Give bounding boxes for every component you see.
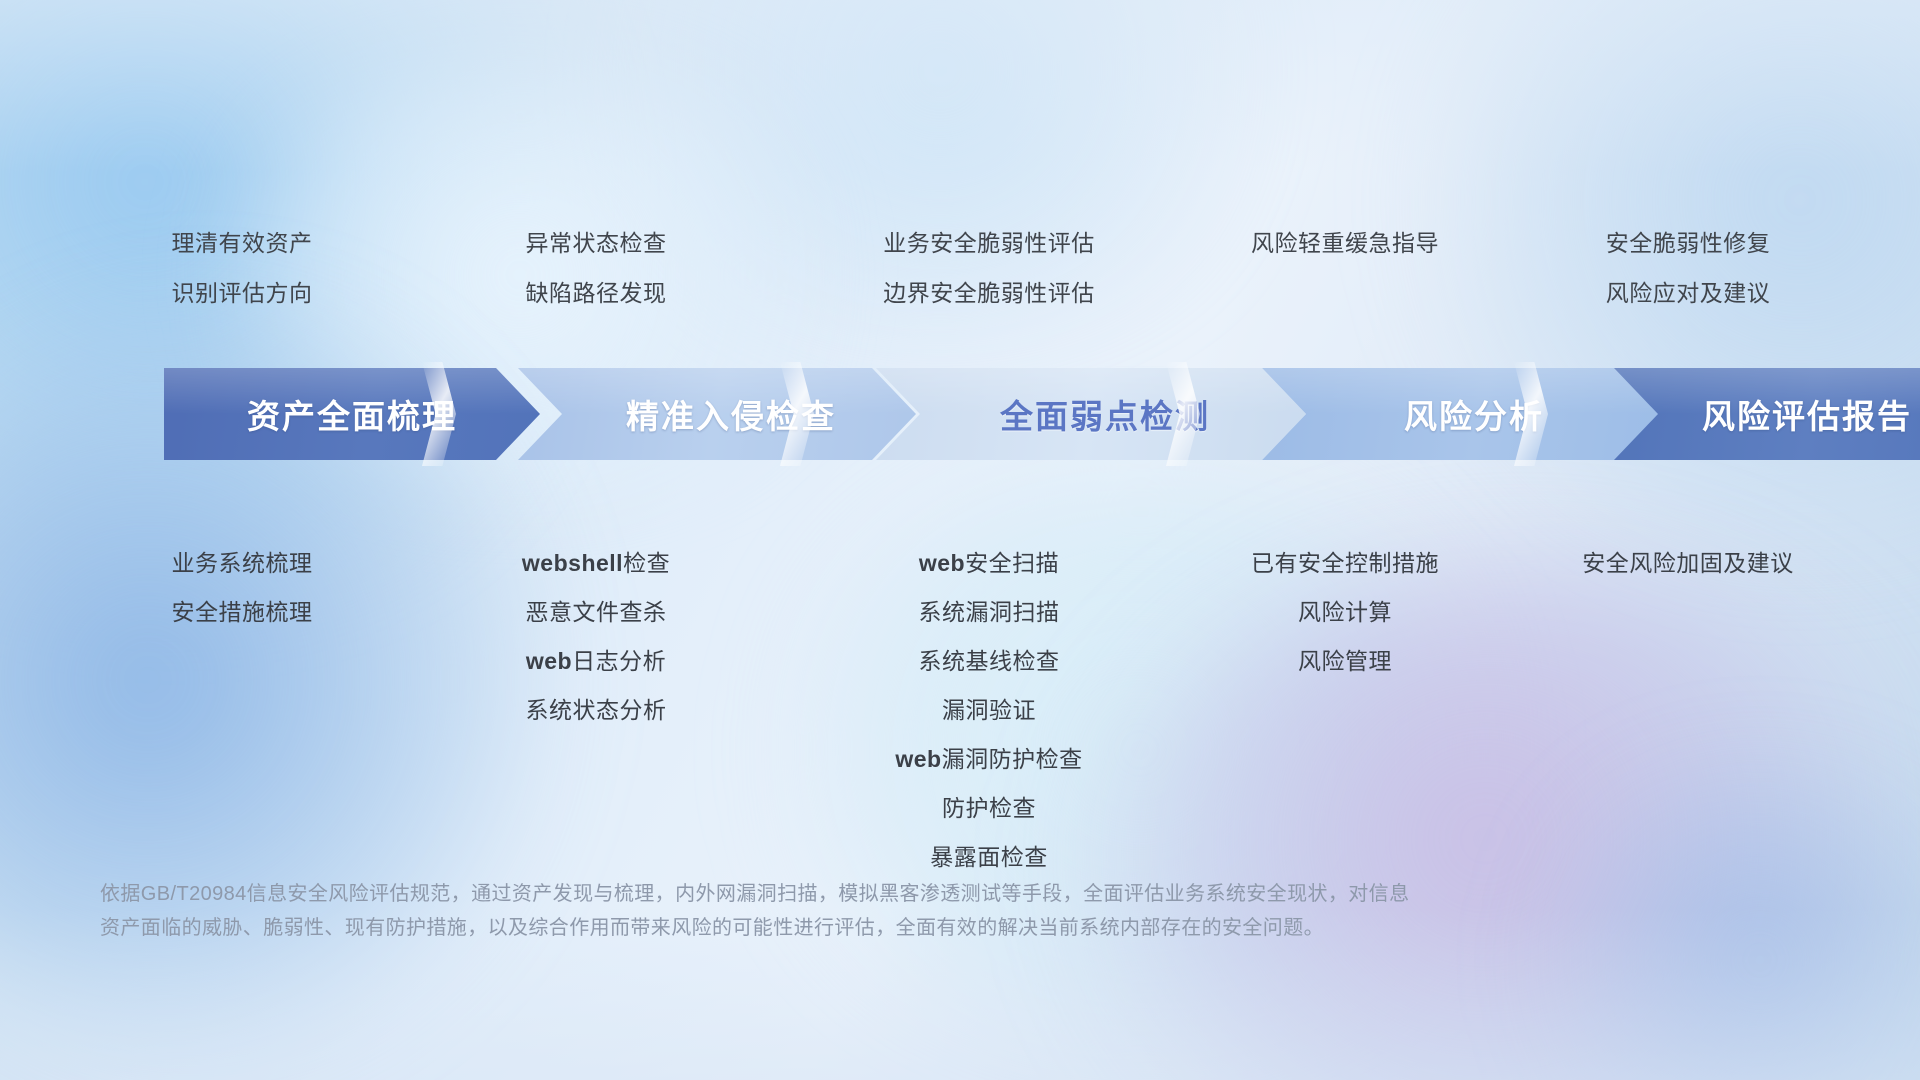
bottom-note-text: 检查 [623,550,670,576]
bottom-note-text: 系统基线检查 [919,648,1060,674]
top-note: 风险应对及建议 [1528,282,1848,305]
bottom-note: webshell检查 [436,552,756,575]
top-note: 异常状态检查 [436,232,756,255]
bottom-note-text: 已有安全控制措施 [1251,550,1439,576]
bottom-note-text: 漏洞验证 [942,697,1036,723]
top-note: 风险轻重缓急指导 [1180,232,1510,255]
bottom-note: 防护检查 [794,797,1184,820]
bottom-note-text: 漏洞防护检查 [942,746,1083,772]
top-note: 识别评估方向 [82,282,402,305]
slide-canvas: 理清有效资产识别评估方向异常状态检查缺陷路径发现业务安全脆弱性评估边界安全脆弱性… [0,0,1920,1080]
top-notes-column-2: 异常状态检查缺陷路径发现 [436,232,756,305]
bottom-notes-column-5: 安全风险加固及建议 [1528,552,1848,575]
diagram-content: 理清有效资产识别评估方向异常状态检查缺陷路径发现业务安全脆弱性评估边界安全脆弱性… [0,0,1920,1080]
top-note: 理清有效资产 [82,232,402,255]
bottom-note: 系统漏洞扫描 [794,601,1184,624]
process-arrow-1[interactable]: 资产全面梳理 [164,368,540,460]
bottom-note-lead: web [919,550,965,576]
top-note: 缺陷路径发现 [436,282,756,305]
top-note: 业务安全脆弱性评估 [794,232,1184,255]
bottom-note: 安全风险加固及建议 [1528,552,1848,575]
bottom-note-text: 安全风险加固及建议 [1582,550,1794,576]
bottom-note: 已有安全控制措施 [1180,552,1510,575]
process-arrow-band: 资产全面梳理精准入侵检查全面弱点检测风险分析风险评估报告 [82,368,1848,460]
top-note: 边界安全脆弱性评估 [794,282,1184,305]
bottom-note-text: 日志分析 [572,648,666,674]
top-notes-column-4: 风险轻重缓急指导 [1180,232,1510,255]
top-notes-column-5: 安全脆弱性修复风险应对及建议 [1528,232,1848,305]
bottom-note: 暴露面检查 [794,846,1184,869]
bottom-notes-column-3: web安全扫描系统漏洞扫描系统基线检查漏洞验证web漏洞防护检查防护检查暴露面检… [794,552,1184,869]
bottom-note: 风险管理 [1180,650,1510,673]
bottom-note-text: 系统漏洞扫描 [919,599,1060,625]
footer-line-2: 资产面临的威胁、脆弱性、现有防护措施，以及综合作用而带来风险的可能性进行评估，全… [100,911,1630,945]
bottom-note: 漏洞验证 [794,699,1184,722]
bottom-note: 系统基线检查 [794,650,1184,673]
bottom-note: 业务系统梳理 [82,552,402,575]
process-arrow-2[interactable]: 精准入侵检查 [518,368,916,460]
bottom-note-lead: webshell [522,550,623,576]
bottom-note: 系统状态分析 [436,699,756,722]
top-notes-column-1: 理清有效资产识别评估方向 [82,232,402,305]
arrow-label-4: 风险分析 [1262,390,1658,438]
bottom-note-text: 风险管理 [1298,648,1392,674]
bottom-note: web漏洞防护检查 [794,748,1184,771]
footer-description: 依据GB/T20984信息安全风险评估规范，通过资产发现与梳理，内外网漏洞扫描，… [100,877,1630,945]
bottom-note: web日志分析 [436,650,756,673]
arrow-label-3: 全面弱点检测 [876,390,1306,438]
bottom-note-text: 系统状态分析 [526,697,667,723]
bottom-note-text: 安全扫描 [965,550,1059,576]
bottom-note: 安全措施梳理 [82,601,402,624]
bottom-note: web安全扫描 [794,552,1184,575]
bottom-note-text: 业务系统梳理 [172,550,313,576]
footer-line-1: 依据GB/T20984信息安全风险评估规范，通过资产发现与梳理，内外网漏洞扫描，… [100,877,1630,911]
bottom-note-text: 安全措施梳理 [172,599,313,625]
bottom-note: 风险计算 [1180,601,1510,624]
bottom-notes-column-1: 业务系统梳理安全措施梳理 [82,552,402,624]
bottom-note-lead: web [895,746,941,772]
bottom-note-text: 暴露面检查 [930,844,1048,870]
bottom-notes-column-4: 已有安全控制措施风险计算风险管理 [1180,552,1510,673]
process-arrow-4[interactable]: 风险分析 [1262,368,1658,460]
top-notes-column-3: 业务安全脆弱性评估边界安全脆弱性评估 [794,232,1184,305]
bottom-note-text: 恶意文件查杀 [526,599,667,625]
top-note: 安全脆弱性修复 [1528,232,1848,255]
bottom-note-text: 防护检查 [942,795,1036,821]
arrow-label-2: 精准入侵检查 [518,390,916,438]
bottom-note: 恶意文件查杀 [436,601,756,624]
arrow-label-1: 资产全面梳理 [164,390,540,438]
bottom-note-text: 风险计算 [1298,599,1392,625]
bottom-note-lead: web [526,648,572,674]
process-arrow-3[interactable]: 全面弱点检测 [876,368,1306,460]
bottom-notes-column-2: webshell检查恶意文件查杀web日志分析系统状态分析 [436,552,756,722]
